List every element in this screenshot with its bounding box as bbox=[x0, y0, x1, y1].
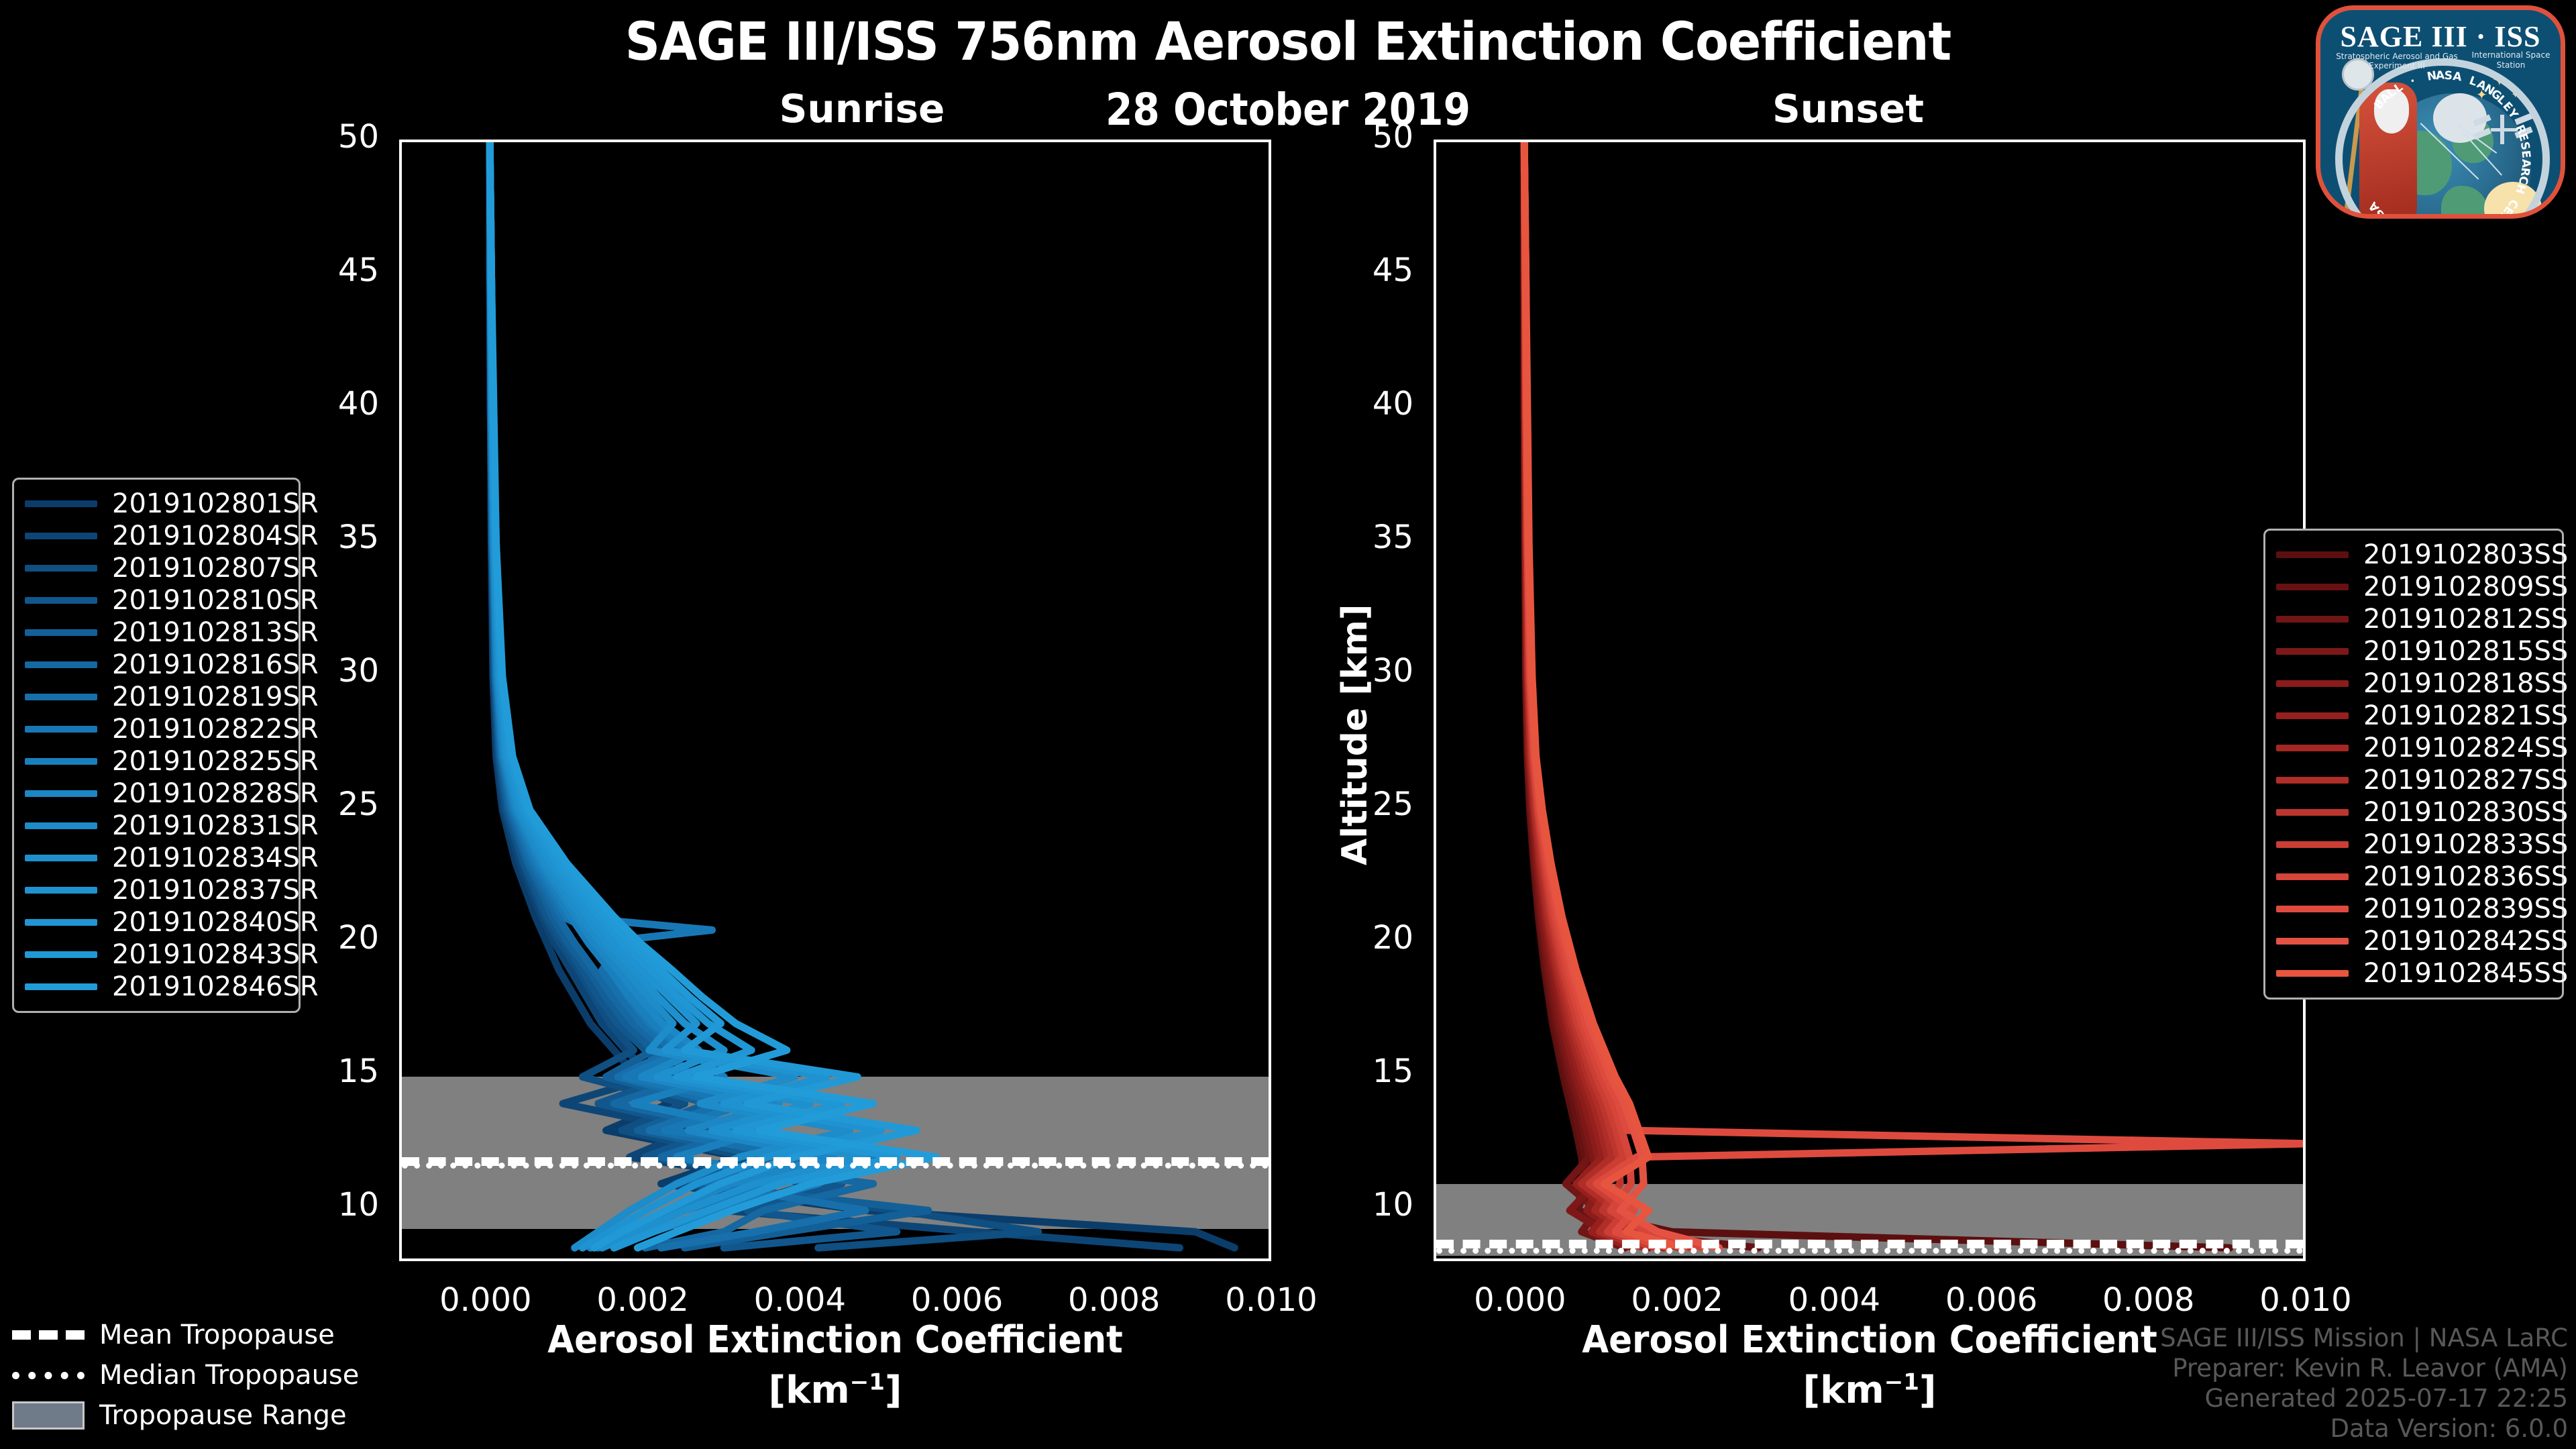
credits-line: SAGE III/ISS Mission | NASA LaRC bbox=[2160, 1323, 2568, 1353]
y-axis-tick bbox=[1434, 808, 1436, 811]
legend-color-swatch bbox=[25, 500, 97, 507]
x-axis-tick bbox=[487, 1258, 490, 1261]
y-axis-tick-label: 45 bbox=[1326, 252, 1413, 289]
sunrise-panel-title: Sunrise bbox=[671, 86, 1053, 131]
page-title: SAGE III/ISS 756nm Aerosol Extinction Co… bbox=[90, 12, 2485, 72]
y-axis-tick bbox=[399, 675, 402, 678]
sunset-panel-title: Sunset bbox=[1657, 86, 2039, 131]
x-axis-tick-label: 0.008 bbox=[2075, 1281, 2222, 1319]
x-axis-tick bbox=[801, 1258, 804, 1261]
legend-color-swatch bbox=[25, 533, 97, 539]
legend-label: 2019102846SR bbox=[112, 971, 319, 1002]
y-axis-tick-label: 40 bbox=[1326, 385, 1413, 423]
sunset-plot-area bbox=[1434, 140, 2306, 1261]
x-axis-tick bbox=[2150, 1258, 2153, 1261]
legend-color-swatch bbox=[25, 597, 97, 604]
credits-line: Generated 2025-07-17 22:25 bbox=[2160, 1383, 2568, 1413]
patch-title: SAGE III · ISS bbox=[2320, 19, 2561, 54]
legend-item-sunrise-event[interactable]: 2019102804SR bbox=[25, 520, 288, 552]
legend-label: 2019102824SS bbox=[2363, 733, 2568, 763]
profile-line bbox=[490, 142, 936, 1248]
legend-item-sunset-event[interactable]: 2019102818SS bbox=[2276, 667, 2551, 700]
legend-color-swatch bbox=[25, 855, 97, 861]
x-axis-tick bbox=[1835, 1258, 1838, 1261]
x-axis-tick-label: 0.002 bbox=[569, 1281, 716, 1319]
legend-color-swatch bbox=[25, 919, 97, 926]
y-axis-tick-label: 10 bbox=[292, 1186, 379, 1224]
patch-ring-text: BALL · NASA LANGLEY RESEARCH CENTER · TA… bbox=[2335, 58, 2550, 219]
legend-label: 2019102809SS bbox=[2363, 572, 2568, 602]
legend-label: 2019102821SS bbox=[2363, 700, 2568, 731]
legend-color-swatch bbox=[2276, 745, 2349, 751]
legend-color-swatch bbox=[2276, 712, 2349, 719]
tropopause-legend: Mean Tropopause Median Tropopause Tropop… bbox=[12, 1315, 361, 1436]
legend-label: 2019102813SR bbox=[112, 617, 319, 648]
x-axis-tick-label: 0.006 bbox=[883, 1281, 1031, 1319]
ring-text-char: T bbox=[2489, 215, 2504, 219]
legend-item-sunset-event[interactable]: 2019102833SS bbox=[2276, 828, 2551, 861]
legend-color-swatch bbox=[25, 822, 97, 829]
legend-color-swatch bbox=[2276, 841, 2349, 848]
x-axis-tick bbox=[1521, 1258, 1524, 1261]
x-axis-tick bbox=[1993, 1258, 1996, 1261]
legend-label: 2019102804SR bbox=[112, 521, 319, 551]
legend-color-swatch bbox=[25, 629, 97, 636]
legend-label: 2019102845SS bbox=[2363, 958, 2568, 989]
legend-color-swatch bbox=[2276, 970, 2349, 977]
legend-label: 2019102819SR bbox=[112, 682, 319, 712]
legend-color-swatch bbox=[2276, 584, 2349, 590]
y-axis-tick bbox=[1434, 1209, 1436, 1212]
profile-line bbox=[1524, 142, 2306, 1248]
legend-item-median-tropopause: Median Tropopause bbox=[12, 1355, 361, 1395]
x-axis-tick-label: 0.000 bbox=[1446, 1281, 1594, 1319]
sunrise-x-axis-unit: [km−1] bbox=[399, 1368, 1271, 1412]
y-axis-tick bbox=[1434, 141, 1436, 144]
legend-item-sunset-event[interactable]: 2019102803SS bbox=[2276, 539, 2551, 571]
ring-text-char: A bbox=[2452, 70, 2463, 84]
legend-label: 2019102828SR bbox=[112, 778, 319, 809]
legend-label: 2019102825SR bbox=[112, 746, 319, 777]
profile-curves bbox=[402, 142, 1271, 1261]
credits-line: Data Version: 6.0.0 bbox=[2160, 1413, 2568, 1444]
legend-color-swatch bbox=[25, 758, 97, 765]
legend-label: 2019102843SR bbox=[112, 939, 319, 970]
legend-item-sunrise-event[interactable]: 2019102834SR bbox=[25, 842, 288, 874]
sage3-iss-mission-patch-logo: ✦ ✦ ✦ BALL · NASA LANGLEY RESEARCH CENTE… bbox=[2316, 5, 2565, 219]
legend-label: 2019102834SR bbox=[112, 843, 319, 873]
legend-color-swatch bbox=[25, 887, 97, 894]
patch-shield: ✦ ✦ ✦ BALL · NASA LANGLEY RESEARCH CENTE… bbox=[2316, 5, 2565, 219]
patch-subtitle-right: International Space Station bbox=[2471, 50, 2551, 70]
legend-item-sunrise-event[interactable]: 2019102840SR bbox=[25, 906, 288, 938]
ring-text-char: S bbox=[2444, 69, 2453, 83]
sunset-legend[interactable]: 2019102803SS2019102809SS2019102812SS2019… bbox=[2263, 529, 2564, 1000]
legend-item-sunset-event[interactable]: 2019102842SS bbox=[2276, 925, 2551, 957]
legend-label: 2019102830SS bbox=[2363, 797, 2568, 828]
legend-label: 2019102807SR bbox=[112, 553, 319, 584]
legend-label-median-tropopause: Median Tropopause bbox=[99, 1360, 359, 1391]
median-tropopause-line bbox=[402, 1163, 1269, 1169]
legend-item-sunrise-event[interactable]: 2019102813SR bbox=[25, 616, 288, 649]
credits-block: SAGE III/ISS Mission | NASA LaRCPreparer… bbox=[2160, 1323, 2568, 1444]
legend-color-swatch bbox=[2276, 809, 2349, 816]
x-axis-tick bbox=[959, 1258, 961, 1261]
sunset-x-axis-label: Aerosol Extinction Coefficient bbox=[1468, 1318, 2271, 1362]
legend-item-sunrise-event[interactable]: 2019102837SR bbox=[25, 874, 288, 906]
y-axis-tick bbox=[1434, 675, 1436, 678]
y-axis-tick bbox=[399, 141, 402, 144]
x-axis-tick-label: 0.006 bbox=[1918, 1281, 2065, 1319]
y-axis-tick-label: 20 bbox=[1326, 919, 1413, 957]
dashed-line-icon bbox=[12, 1330, 85, 1340]
x-axis-tick-label: 0.010 bbox=[2232, 1281, 2379, 1319]
legend-color-swatch bbox=[2276, 906, 2349, 912]
legend-label: 2019102831SR bbox=[112, 810, 319, 841]
legend-label: 2019102812SS bbox=[2363, 604, 2568, 635]
legend-item-sunset-event[interactable]: 2019102839SS bbox=[2276, 893, 2551, 925]
legend-label: 2019102815SS bbox=[2363, 636, 2568, 667]
sunset-y-axis-label: Altitude [km] bbox=[1335, 604, 1375, 865]
y-axis-tick bbox=[1434, 1075, 1436, 1078]
sunrise-plot-area bbox=[399, 140, 1271, 1261]
y-axis-tick bbox=[1434, 942, 1436, 945]
y-axis-tick bbox=[399, 808, 402, 811]
legend-item-sunset-event[interactable]: 2019102809SS bbox=[2276, 571, 2551, 603]
legend-label: 2019102827SS bbox=[2363, 765, 2568, 796]
y-axis-tick-label: 35 bbox=[1326, 519, 1413, 556]
legend-color-swatch bbox=[2276, 938, 2349, 945]
legend-color-swatch bbox=[2276, 873, 2349, 880]
legend-item-sunrise-event[interactable]: 2019102810SR bbox=[25, 584, 288, 616]
y-axis-tick-label: 50 bbox=[1326, 118, 1413, 156]
legend-label: 2019102803SS bbox=[2363, 539, 2568, 570]
legend-color-swatch bbox=[2276, 616, 2349, 623]
y-axis-tick-label: 15 bbox=[292, 1053, 379, 1090]
figure-root: SAGE III/ISS 756nm Aerosol Extinction Co… bbox=[0, 0, 2576, 1449]
dotted-line-icon bbox=[12, 1372, 85, 1379]
legend-label: 2019102836SS bbox=[2363, 861, 2568, 892]
legend-color-swatch bbox=[2276, 777, 2349, 784]
legend-color-swatch bbox=[2276, 551, 2349, 558]
legend-item-sunset-event[interactable]: 2019102824SS bbox=[2276, 732, 2551, 764]
legend-label: 2019102840SR bbox=[112, 907, 319, 938]
legend-item-mean-tropopause: Mean Tropopause bbox=[12, 1315, 361, 1355]
legend-label: 2019102833SS bbox=[2363, 829, 2568, 860]
y-axis-tick bbox=[1434, 541, 1436, 544]
ring-text-char: E bbox=[2518, 150, 2532, 159]
legend-item-sunrise-event[interactable]: 2019102846SR bbox=[25, 971, 288, 1003]
legend-label: 2019102810SR bbox=[112, 585, 319, 616]
legend-label: 2019102816SR bbox=[112, 649, 319, 680]
y-axis-tick bbox=[1434, 408, 1436, 411]
legend-label: 2019102837SR bbox=[112, 875, 319, 906]
legend-item-tropopause-range: Tropopause Range bbox=[12, 1395, 361, 1436]
y-axis-tick bbox=[399, 274, 402, 277]
profile-line bbox=[1524, 142, 2230, 1248]
ring-text-char: · bbox=[2408, 74, 2418, 89]
legend-color-swatch bbox=[25, 983, 97, 990]
legend-label: 2019102801SR bbox=[112, 488, 319, 519]
legend-item-sunrise-event[interactable]: 2019102801SR bbox=[25, 488, 288, 520]
gray-band-swatch-icon bbox=[12, 1401, 85, 1430]
legend-item-sunrise-event[interactable]: 2019102825SR bbox=[25, 745, 288, 777]
legend-color-swatch bbox=[25, 790, 97, 797]
y-axis-tick bbox=[399, 942, 402, 945]
legend-label-mean-tropopause: Mean Tropopause bbox=[99, 1320, 335, 1350]
legend-label: 2019102839SS bbox=[2363, 894, 2568, 924]
legend-item-sunrise-event[interactable]: 2019102831SR bbox=[25, 810, 288, 842]
legend-label-tropopause-range: Tropopause Range bbox=[99, 1400, 347, 1431]
profile-line bbox=[1524, 142, 1758, 1248]
legend-color-swatch bbox=[2276, 680, 2349, 687]
sunrise-x-axis-label: Aerosol Extinction Coefficient bbox=[434, 1318, 1236, 1362]
y-axis-tick-label: 40 bbox=[292, 385, 379, 423]
legend-item-sunset-event[interactable]: 2019102845SS bbox=[2276, 957, 2551, 989]
legend-item-sunset-event[interactable]: 2019102821SS bbox=[2276, 700, 2551, 732]
legend-label: 2019102822SR bbox=[112, 714, 319, 745]
legend-item-sunset-event[interactable]: 2019102812SS bbox=[2276, 603, 2551, 635]
x-axis-tick-label: 0.004 bbox=[1760, 1281, 1908, 1319]
legend-item-sunset-event[interactable]: 2019102827SS bbox=[2276, 764, 2551, 796]
y-axis-tick-label: 50 bbox=[292, 118, 379, 156]
legend-item-sunrise-event[interactable]: 2019102843SR bbox=[25, 938, 288, 971]
legend-item-sunset-event[interactable]: 2019102836SS bbox=[2276, 861, 2551, 893]
x-axis-tick-label: 0.002 bbox=[1603, 1281, 1751, 1319]
credits-line: Preparer: Kevin R. Leavor (AMA) bbox=[2160, 1353, 2568, 1383]
legend-color-swatch bbox=[25, 694, 97, 700]
x-axis-tick-label: 0.004 bbox=[726, 1281, 873, 1319]
legend-label: 2019102842SS bbox=[2363, 926, 2568, 957]
legend-color-swatch bbox=[25, 951, 97, 958]
y-axis-tick bbox=[399, 408, 402, 411]
y-axis-tick bbox=[399, 1075, 402, 1078]
legend-label: 2019102818SS bbox=[2363, 668, 2568, 699]
legend-color-swatch bbox=[25, 565, 97, 572]
y-axis-tick bbox=[399, 1209, 402, 1212]
patch-subtitle-left: Stratospheric Aerosol and Gas Experiment… bbox=[2330, 52, 2464, 70]
x-axis-tick-label: 0.008 bbox=[1040, 1281, 1188, 1319]
legend-item-sunrise-event[interactable]: 2019102816SR bbox=[25, 649, 288, 681]
x-axis-tick bbox=[1678, 1258, 1681, 1261]
legend-item-sunrise-event[interactable]: 2019102807SR bbox=[25, 552, 288, 584]
legend-color-swatch bbox=[2276, 648, 2349, 655]
y-axis-tick bbox=[1434, 274, 1436, 277]
legend-color-swatch bbox=[25, 661, 97, 668]
x-axis-tick-label: 0.010 bbox=[1197, 1281, 1345, 1319]
y-axis-tick bbox=[399, 541, 402, 544]
legend-item-sunset-event[interactable]: 2019102830SS bbox=[2276, 796, 2551, 828]
y-axis-tick-label: 10 bbox=[1326, 1186, 1413, 1224]
legend-item-sunrise-event[interactable]: 2019102822SR bbox=[25, 713, 288, 745]
median-tropopause-line bbox=[1436, 1248, 2303, 1254]
legend-item-sunrise-event[interactable]: 2019102819SR bbox=[25, 681, 288, 713]
legend-color-swatch bbox=[25, 726, 97, 733]
x-axis-tick-label: 0.000 bbox=[412, 1281, 559, 1319]
x-axis-tick bbox=[1116, 1258, 1118, 1261]
legend-item-sunset-event[interactable]: 2019102815SS bbox=[2276, 635, 2551, 667]
sunrise-legend[interactable]: 2019102801SR2019102804SR2019102807SR2019… bbox=[12, 478, 301, 1013]
y-axis-tick-label: 15 bbox=[1326, 1053, 1413, 1090]
profile-curves bbox=[1436, 142, 2306, 1261]
legend-item-sunrise-event[interactable]: 2019102828SR bbox=[25, 777, 288, 810]
y-axis-tick-label: 45 bbox=[292, 252, 379, 289]
x-axis-tick bbox=[644, 1258, 647, 1261]
